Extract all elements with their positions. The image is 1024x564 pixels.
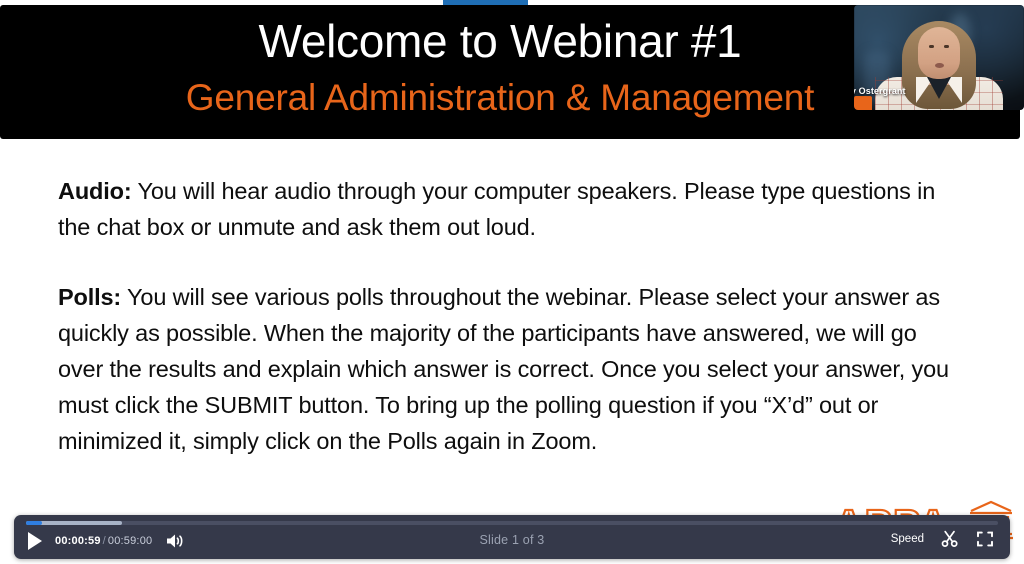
video-player-control-bar: 00:00:59/00:59:00 Slide 1 of 3 Speed bbox=[14, 515, 1010, 559]
presenter-eye-left bbox=[929, 45, 934, 48]
presenter-eye-right bbox=[944, 45, 949, 48]
slide-counter: Slide 1 of 3 bbox=[14, 533, 1010, 547]
webcam-accent-chip bbox=[854, 96, 872, 110]
progress-scrubber[interactable] bbox=[26, 521, 998, 525]
paragraph-audio-lead: Audio: bbox=[58, 178, 132, 204]
presenter-face bbox=[918, 27, 960, 79]
fullscreen-icon[interactable] bbox=[976, 530, 994, 548]
scissors-icon[interactable] bbox=[941, 530, 959, 548]
progress-played bbox=[26, 521, 42, 525]
banner-title: Welcome to Webinar #1 bbox=[0, 14, 1000, 68]
webinar-player-page: Welcome to Webinar #1 General Administra… bbox=[0, 0, 1024, 564]
presenter-mouth bbox=[935, 63, 944, 68]
paragraph-polls: Polls: You will see various polls throug… bbox=[58, 279, 958, 459]
paragraph-polls-text: You will see various polls throughout th… bbox=[58, 284, 949, 454]
slide-surface: Welcome to Webinar #1 General Administra… bbox=[0, 5, 1024, 519]
player-right-controls: Speed bbox=[891, 529, 994, 549]
presenter-neckline bbox=[927, 77, 951, 99]
presenter-name-label: Kelly Ostergrant bbox=[854, 86, 906, 96]
presenter-webcam-thumbnail[interactable]: Kelly Ostergrant bbox=[854, 5, 1024, 110]
paragraph-polls-lead: Polls: bbox=[58, 284, 121, 310]
paragraph-audio-text: You will hear audio through your compute… bbox=[58, 178, 935, 240]
slide-body-text: Audio: You will hear audio through your … bbox=[58, 173, 958, 459]
paragraph-audio: Audio: You will hear audio through your … bbox=[58, 173, 958, 245]
speed-button[interactable]: Speed bbox=[891, 533, 924, 545]
banner-subtitle: General Administration & Management bbox=[0, 77, 1000, 119]
